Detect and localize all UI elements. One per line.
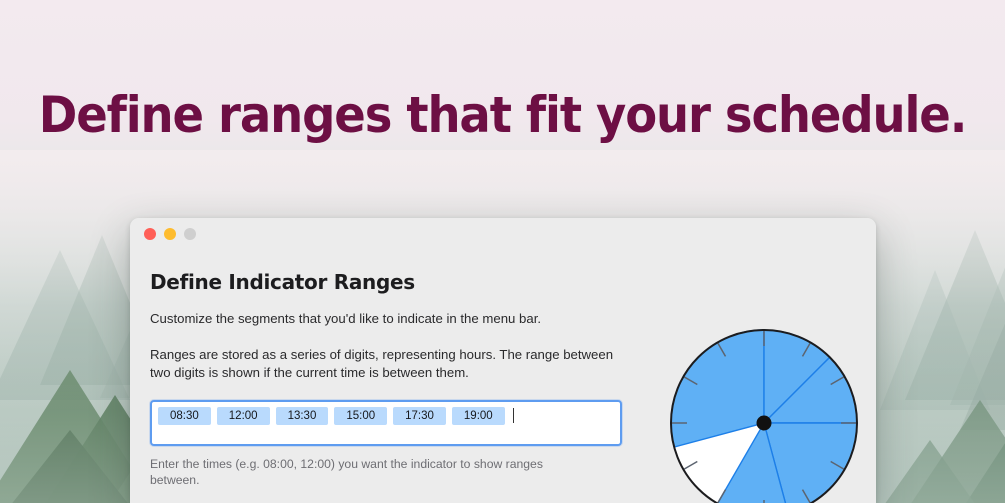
tree-silhouette: [870, 440, 990, 503]
close-button-icon[interactable]: [144, 228, 156, 240]
clock-svg: [668, 327, 860, 503]
text-caret: [513, 408, 515, 423]
window-content: Define Indicator Ranges Customize the se…: [130, 248, 876, 488]
minimize-button-icon[interactable]: [164, 228, 176, 240]
zoom-button-icon[interactable]: [184, 228, 196, 240]
time-token[interactable]: 15:00: [334, 407, 387, 425]
time-token[interactable]: 08:30: [158, 407, 211, 425]
time-token[interactable]: 19:00: [452, 407, 505, 425]
explanation-paragraph: Ranges are stored as a series of digits,…: [150, 346, 620, 382]
time-token[interactable]: 13:30: [276, 407, 329, 425]
traffic-lights: [144, 228, 196, 240]
clock-center-hub: [757, 416, 772, 431]
ranges-clock-chart: [668, 327, 860, 503]
time-token[interactable]: 12:00: [217, 407, 270, 425]
intro-paragraph: Customize the segments that you'd like t…: [150, 310, 620, 328]
tree-silhouette: [0, 430, 145, 503]
window-titlebar[interactable]: [130, 218, 876, 248]
time-token[interactable]: 17:30: [393, 407, 446, 425]
page-headline: Define ranges that fit your schedule.: [35, 86, 970, 144]
ranges-token-input[interactable]: 08:3012:0013:3015:0017:3019:00: [150, 400, 622, 446]
screenshot-stage: Define ranges that fit your schedule. De…: [0, 0, 1005, 503]
page-title: Define Indicator Ranges: [150, 270, 856, 294]
field-help-text: Enter the times (e.g. 08:00, 12:00) you …: [150, 456, 595, 489]
app-window: Define Indicator Ranges Customize the se…: [130, 218, 876, 503]
ranges-field-group: 08:3012:0013:3015:0017:3019:00 Enter the…: [150, 400, 622, 489]
